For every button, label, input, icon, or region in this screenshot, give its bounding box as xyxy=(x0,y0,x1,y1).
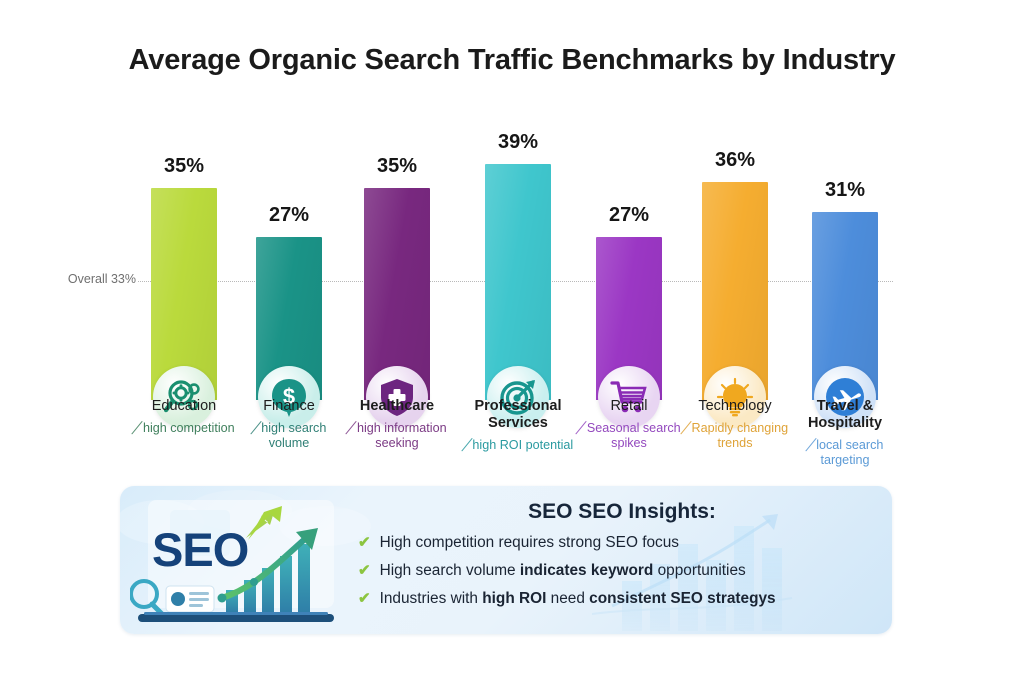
category-note: ╱high information seeking xyxy=(338,421,456,451)
category-name: Healthcare xyxy=(338,398,456,415)
seo-logo-illustration: SEO xyxy=(130,494,352,626)
category-note: ╱Seasonal search spikes xyxy=(570,421,688,451)
insight-text: High search volume indicates keyword opp… xyxy=(380,561,746,580)
category-name: Travel & xyxy=(786,398,904,415)
bar-column: 31% xyxy=(789,15,901,400)
category-label-group: ProfessionalServices╱high ROI potential xyxy=(459,398,577,453)
check-slash-icon: ╱ xyxy=(346,420,357,436)
category-note: ╱high search volume xyxy=(230,421,348,451)
category-name-line2: Hospitality xyxy=(786,415,904,432)
bar-column: 35% xyxy=(128,15,240,400)
insight-text: Industries with high ROI need consistent… xyxy=(380,589,776,608)
bar-series: 35% 27% $ 35% 39% xyxy=(0,0,1024,400)
category-label-group: Education╱high competition xyxy=(125,398,243,436)
category-note: ╱Rapidly changing trends xyxy=(676,421,794,451)
category-name-line2: Services xyxy=(459,415,577,432)
insights-content: SEO SEO Insights: ✔High competition requ… xyxy=(358,496,886,617)
svg-text:SEO: SEO xyxy=(152,523,248,576)
bar-value-label: 39% xyxy=(498,131,538,154)
insight-item: ✔High competition requires strong SEO fo… xyxy=(358,533,886,552)
category-name: Technology xyxy=(676,398,794,415)
bar-sheen xyxy=(485,164,551,400)
insights-list: ✔High competition requires strong SEO fo… xyxy=(358,533,886,608)
bar-value-label: 35% xyxy=(377,155,417,178)
category-note: ╱local search targeting xyxy=(786,438,904,468)
category-label-group: Technology╱Rapidly changing trends xyxy=(676,398,794,451)
bar-column: 36% xyxy=(679,15,791,400)
category-name: Education xyxy=(125,398,243,415)
bar-value-label: 35% xyxy=(164,155,204,178)
insights-title: SEO SEO Insights: xyxy=(358,500,886,524)
category-note: ╱high competition xyxy=(125,421,243,436)
check-slash-icon: ╱ xyxy=(805,437,816,453)
insight-item: ✔High search volume indicates keyword op… xyxy=(358,561,886,580)
check-icon: ✔ xyxy=(358,561,371,580)
bar-column: 35% xyxy=(341,15,453,400)
insight-text: High competition requires strong SEO foc… xyxy=(380,533,679,552)
category-label-group: Travel &Hospitality╱local search targeti… xyxy=(786,398,904,468)
bar-value-label: 31% xyxy=(825,179,865,202)
category-labels: Education╱high competitionFinance╱high s… xyxy=(0,398,1024,488)
infographic-canvas: Average Organic Search Traffic Benchmark… xyxy=(0,0,1024,683)
bar-value-label: 27% xyxy=(609,204,649,227)
check-slash-icon: ╱ xyxy=(250,420,261,436)
check-icon: ✔ xyxy=(358,589,371,608)
category-label-group: Healthcare╱high information seeking xyxy=(338,398,456,451)
category-name: Retail xyxy=(570,398,688,415)
category-name: Finance xyxy=(230,398,348,415)
check-slash-icon: ╱ xyxy=(461,437,472,453)
bar-column: 39% xyxy=(462,15,574,400)
bar-column: 27% xyxy=(573,15,685,400)
bar[interactable] xyxy=(485,164,551,400)
bar-column: 27% $ xyxy=(233,15,345,400)
insight-item: ✔Industries with high ROI need consisten… xyxy=(358,589,886,608)
category-label-group: Retail╱Seasonal search spikes xyxy=(570,398,688,451)
check-slash-icon: ╱ xyxy=(576,420,587,436)
bar-value-label: 36% xyxy=(715,149,755,172)
check-icon: ✔ xyxy=(358,533,371,552)
bar-value-label: 27% xyxy=(269,204,309,227)
check-slash-icon: ╱ xyxy=(132,420,143,436)
category-label-group: Finance╱high search volume xyxy=(230,398,348,451)
category-note: ╱high ROI potential xyxy=(459,438,577,453)
check-slash-icon: ╱ xyxy=(680,420,691,436)
category-name: Professional xyxy=(459,398,577,415)
seo-insights-panel: SEO SEO SEO Insights: ✔High competition … xyxy=(120,486,892,634)
